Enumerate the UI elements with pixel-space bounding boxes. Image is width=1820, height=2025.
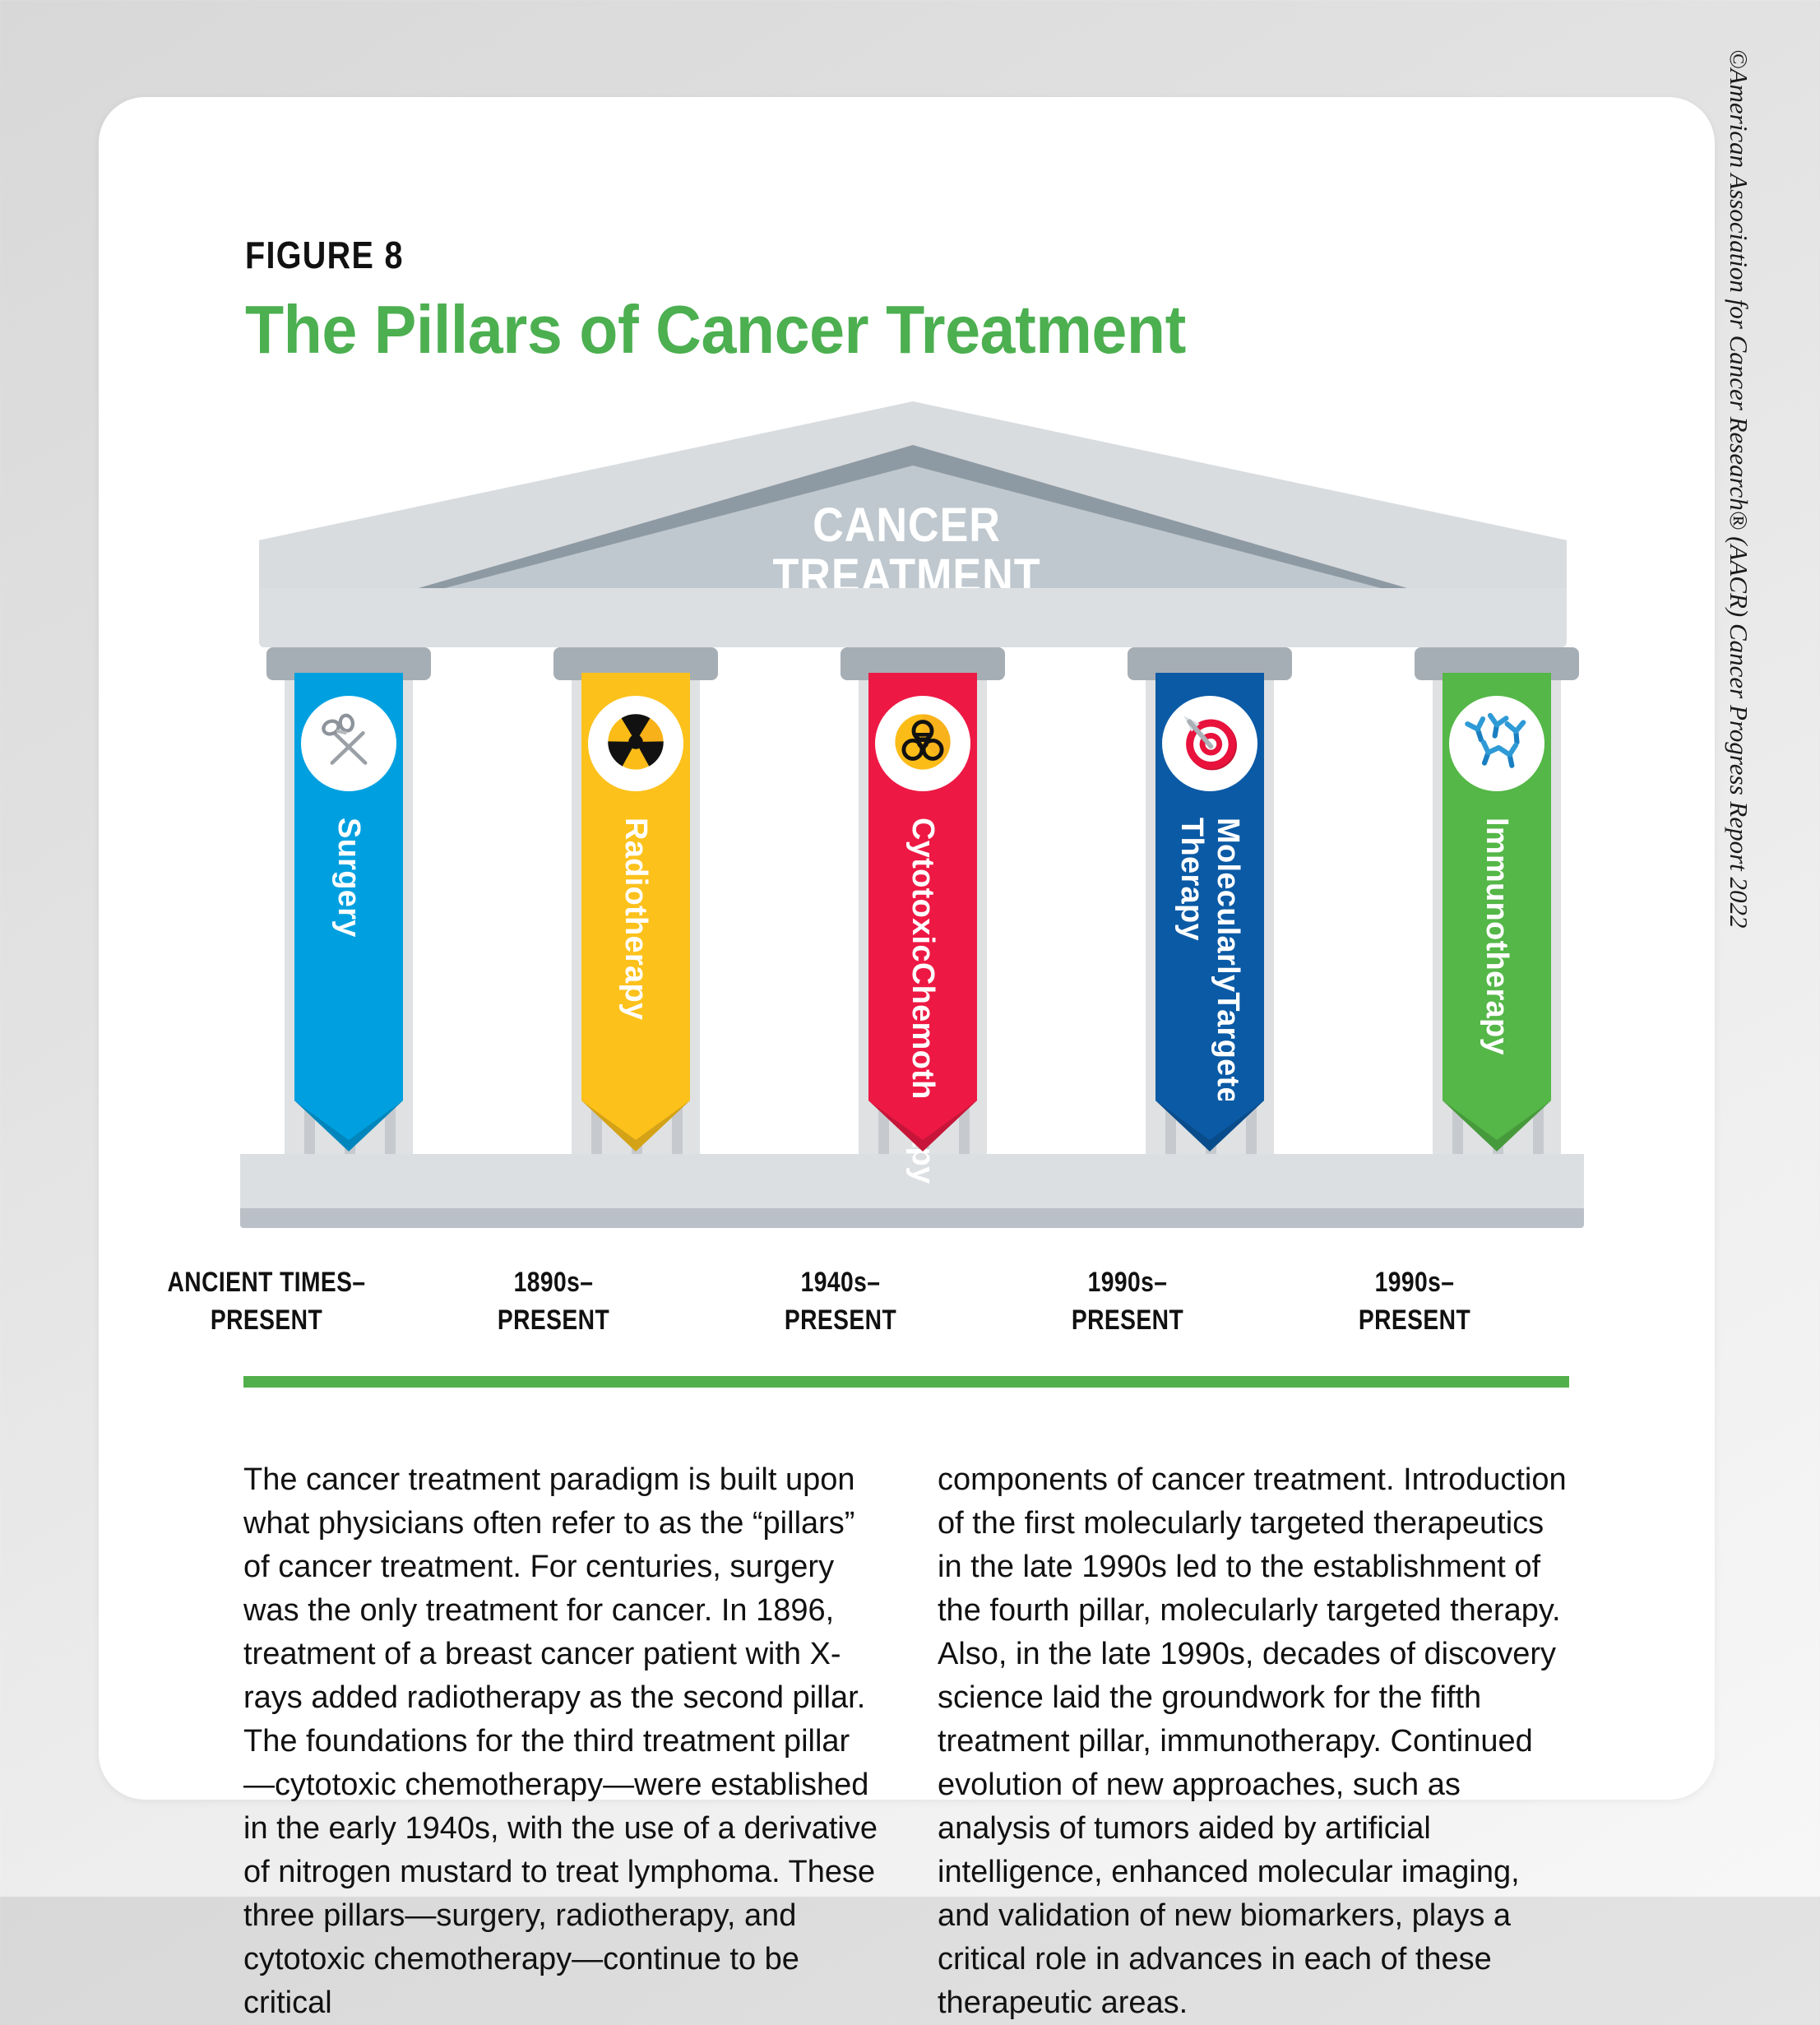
pillar-label: Surgery (294, 818, 403, 1089)
pillar-label-text: Immunotherapy (1479, 818, 1515, 1055)
green-divider (243, 1376, 1569, 1388)
era-line1: 1990s– (1015, 1263, 1240, 1301)
biohazard-icon-badge (875, 696, 970, 791)
body-text-right: components of cancer treatment. Introduc… (938, 1458, 1575, 2025)
radiation-icon-badge (588, 696, 683, 791)
pillar-label-text: MolecularlyTargeted Therapy (1174, 818, 1246, 1089)
stylobate-bottom (240, 1208, 1584, 1228)
antibody-icon-badge (1449, 696, 1544, 791)
pillar-label-line: Cytotoxic (905, 818, 940, 962)
era-label-4: 1990s– PRESENT (992, 1263, 1263, 1339)
radiation-icon (600, 707, 671, 781)
era-line1: 1940s– (728, 1263, 953, 1301)
era-line2: PRESENT (441, 1301, 666, 1339)
pillar-ribbon-cytotoxic-chemotherapy[interactable]: CytotoxicChemotherapy (868, 673, 977, 1101)
temple-title: CANCER TREATMENT (179, 500, 1634, 602)
pillar-label: CytotoxicChemotherapy (868, 818, 977, 1089)
pillar-ribbon-surgery[interactable]: Surgery (294, 673, 403, 1101)
pillar-label-text: Surgery (331, 818, 367, 938)
pillar-label-text: CytotoxicChemotherapy (905, 818, 941, 1089)
pillar-label-line: Radiotherapy (618, 818, 653, 1020)
temple-diagram: CANCER TREATMENT (99, 97, 1715, 1380)
era-label-2: 1890s– PRESENT (418, 1263, 689, 1339)
era-label-5: 1990s– PRESENT (1279, 1263, 1550, 1339)
pillar-ribbon-radiotherapy[interactable]: Radiotherapy (581, 673, 690, 1101)
era-line2: PRESENT (1015, 1301, 1240, 1339)
era-label-1: ANCIENT TIMES– PRESENT (131, 1263, 402, 1339)
ribbon-body: Surgery (294, 673, 403, 1101)
temple-title-line1: CANCER (179, 500, 1634, 551)
ribbon-body: MolecularlyTargeted Therapy (1155, 673, 1264, 1101)
pillar-label-line: Immunotherapy (1480, 818, 1514, 1055)
era-label-3: 1940s– PRESENT (705, 1263, 976, 1339)
ribbon-body: CytotoxicChemotherapy (868, 673, 977, 1101)
surgical-scissors-icon (313, 707, 384, 781)
era-line1: 1990s– (1302, 1263, 1527, 1301)
pillar-ribbon-molecularly-targeted-therapy[interactable]: MolecularlyTargeted Therapy (1155, 673, 1264, 1101)
pillar-label: Radiotherapy (581, 818, 690, 1089)
body-text-left: The cancer treatment paradigm is built u… (243, 1458, 881, 2025)
pillar-label-text: Radiotherapy (618, 818, 654, 1020)
era-line1: 1890s– (441, 1263, 666, 1301)
era-line2: PRESENT (728, 1301, 953, 1339)
pillar-label: Immunotherapy (1443, 818, 1551, 1089)
era-line1: ANCIENT TIMES– (154, 1263, 379, 1301)
biohazard-icon (887, 707, 958, 781)
figure-card: FIGURE 8 The Pillars of Cancer Treatment… (99, 97, 1715, 1800)
era-line2: PRESENT (154, 1301, 379, 1339)
target-arrow-icon-badge (1162, 696, 1257, 791)
pillar-label-line: Surgery (331, 818, 366, 938)
pillar-label-line: Molecularly (1211, 818, 1245, 992)
pillar-label: MolecularlyTargeted Therapy (1155, 818, 1264, 1089)
era-line2: PRESENT (1302, 1301, 1527, 1339)
architrave (259, 588, 1567, 647)
pillar-ribbon-immunotherapy[interactable]: Immunotherapy (1443, 673, 1551, 1101)
antibody-icon (1461, 706, 1533, 782)
ribbon-body: Radiotherapy (581, 673, 690, 1101)
target-arrow-icon (1174, 706, 1246, 782)
ribbon-body: Immunotherapy (1443, 673, 1551, 1101)
surgical-scissors-icon-badge (301, 696, 396, 791)
copyright-credit: ©American Association for Cancer Researc… (1724, 49, 1753, 1045)
